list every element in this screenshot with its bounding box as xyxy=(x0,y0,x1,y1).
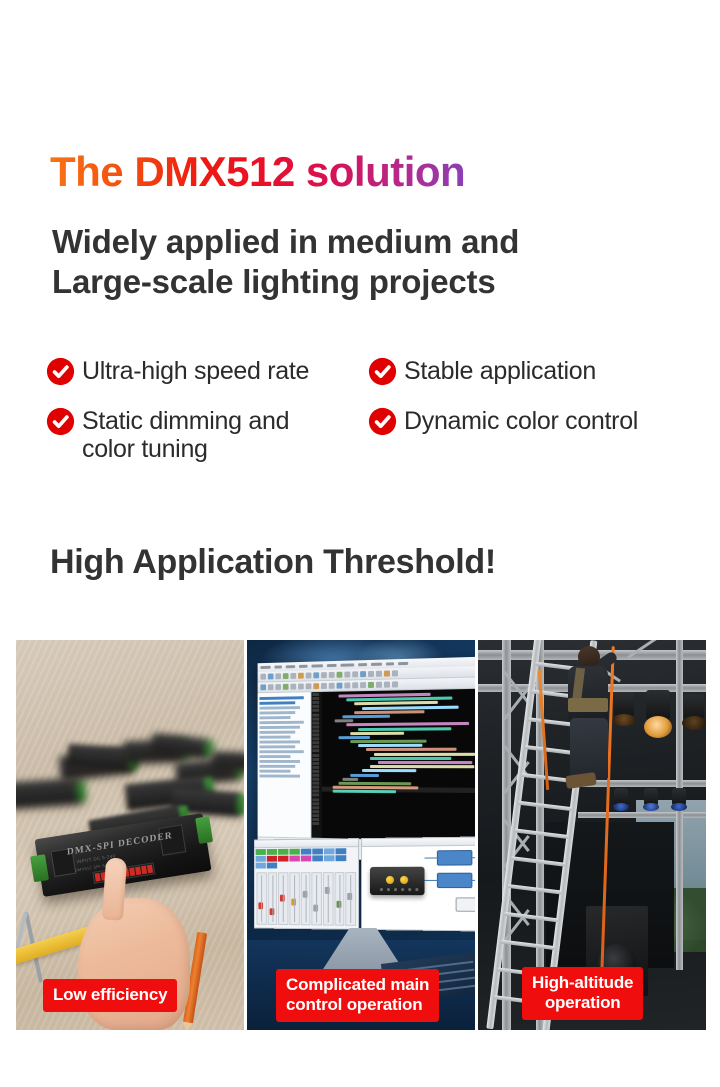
audio-interface-device xyxy=(370,867,425,895)
feature-row: Ultra-high speed rate Stable application xyxy=(46,356,706,386)
line-number-gutter xyxy=(311,692,322,838)
device-label: DMX-SPI DECODER xyxy=(67,831,173,858)
software-lower-windows xyxy=(254,836,475,931)
stage-light-lens xyxy=(671,803,687,811)
scene-grid[interactable] xyxy=(255,847,358,869)
block-diagram-window[interactable] xyxy=(361,836,475,931)
diagram-node xyxy=(456,897,475,912)
mixer-window[interactable] xyxy=(254,838,359,930)
check-circle-icon xyxy=(368,407,397,436)
stage-light-lens xyxy=(644,716,672,738)
subtitle: Widely applied in medium and Large-scale… xyxy=(52,222,672,303)
boot xyxy=(565,772,597,789)
fader xyxy=(278,872,288,925)
feature-label: Stable application xyxy=(404,356,596,385)
pointing-finger xyxy=(102,857,127,920)
fader xyxy=(301,872,311,925)
fader xyxy=(346,872,356,926)
technician xyxy=(554,644,626,794)
knob xyxy=(400,876,408,884)
panel-caption: Complicated main control operation xyxy=(276,969,439,1022)
stage-light-lens xyxy=(643,803,659,811)
code-editor-area[interactable] xyxy=(311,689,475,842)
photo-strip: DMX-SPI DECODER INPUT DC 5-24V DMX512 SP… xyxy=(16,640,706,1030)
project-tree-panel[interactable] xyxy=(258,692,312,838)
fader xyxy=(267,872,277,925)
monitor-screen xyxy=(258,657,475,864)
subtitle-line-2: Large-scale lighting projects xyxy=(52,262,672,302)
feature-item-stable-application: Stable application xyxy=(368,356,706,386)
check-circle-icon xyxy=(46,407,75,436)
feature-label: Static dimming and color tuning xyxy=(82,406,289,463)
ide-body xyxy=(258,689,475,842)
stage-light-lens xyxy=(682,716,706,730)
check-circle-icon xyxy=(46,357,75,386)
feature-list: Ultra-high speed rate Stable application… xyxy=(46,356,706,483)
legs xyxy=(570,718,608,780)
feature-label: Ultra-high speed rate xyxy=(82,356,309,385)
fader xyxy=(312,872,322,925)
subtitle-line-1: Widely applied in medium and xyxy=(52,222,672,262)
panel-caption: Low efficiency xyxy=(43,979,177,1012)
panel-caption: High-altitude operation xyxy=(522,967,643,1020)
feature-label: Dynamic color control xyxy=(404,406,638,435)
head xyxy=(578,646,600,668)
stage-light-lens xyxy=(613,803,629,811)
check-circle-icon xyxy=(368,357,397,386)
safety-harness xyxy=(568,698,608,712)
photo-panel-complicated-control: Complicated main control operation xyxy=(247,640,475,1030)
decoder-unit xyxy=(16,777,83,808)
photo-panel-high-altitude: High-altitude operation xyxy=(478,640,706,1030)
promo-page: The DMX512 solution Widely applied in me… xyxy=(0,0,720,1087)
feature-row: Static dimming and color tuning Dynamic … xyxy=(46,406,706,463)
feature-item-static-dimming-color-tuning: Static dimming and color tuning xyxy=(46,406,368,463)
green-terminal-block xyxy=(30,854,49,882)
fader-bank[interactable] xyxy=(255,869,358,929)
photo-panel-low-efficiency: DMX-SPI DECODER INPUT DC 5-24V DMX512 SP… xyxy=(16,640,244,1030)
knob xyxy=(386,876,394,884)
threshold-heading: High Application Threshold! xyxy=(50,543,496,582)
fader xyxy=(257,872,267,924)
feature-item-ultra-high-speed-rate: Ultra-high speed rate xyxy=(46,356,368,386)
diagram-node xyxy=(437,850,472,866)
diagram-title-bar xyxy=(362,837,475,847)
decoder-unit xyxy=(212,751,244,771)
fader xyxy=(289,872,299,925)
fader xyxy=(334,872,344,926)
diagram-node xyxy=(437,873,472,888)
feature-item-dynamic-color-control: Dynamic color control xyxy=(368,406,706,436)
page-title: The DMX512 solution xyxy=(50,150,465,194)
fader xyxy=(323,872,333,925)
